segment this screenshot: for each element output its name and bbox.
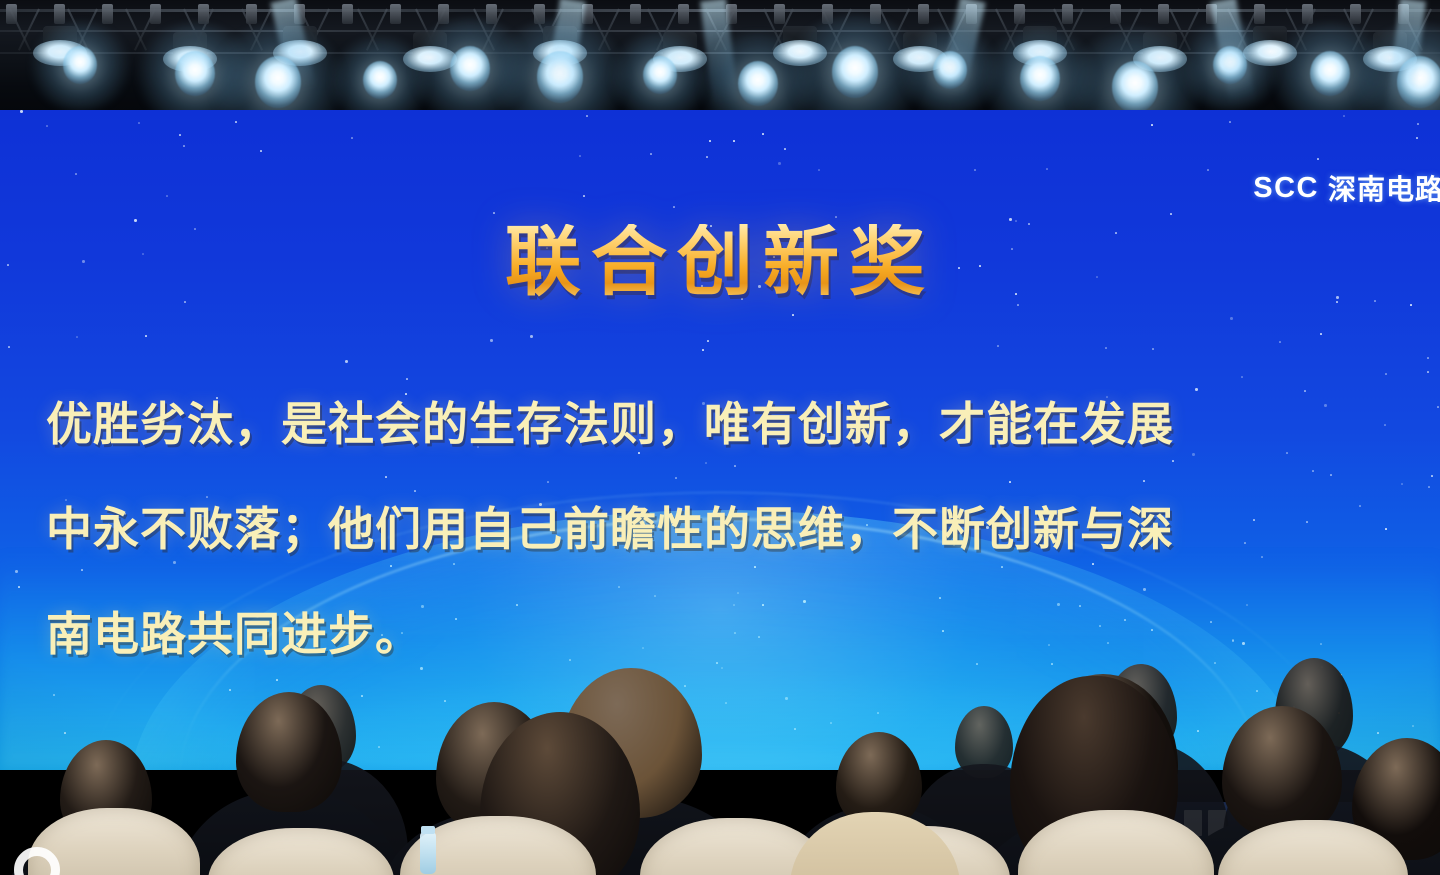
audience-shoulders [374,812,614,875]
star-particle [818,169,820,171]
star-particle [1320,333,1322,335]
star-particle [707,340,709,342]
star-particle [1170,213,1172,215]
star-particle [1374,300,1376,302]
chair-back [640,818,830,875]
star-particle [974,169,976,171]
award-title: 联合创新奖 [0,224,1440,300]
truss-clamp [1014,4,1025,24]
star-particle [650,153,652,155]
star-particle [20,110,23,113]
star-particle [145,335,147,337]
scc-logo-mark: SCC [1253,172,1319,205]
truss-clamp [1110,4,1121,24]
star-particle [351,137,353,139]
audience-shoulders [234,759,408,875]
star-particle [706,156,708,158]
chair-back [1018,810,1214,875]
truss-clamp [390,4,401,24]
star-particle [673,206,675,208]
star-particle [702,349,704,351]
star-particle [1230,317,1233,320]
star-particle [1046,168,1048,170]
water-bottle [420,832,436,874]
name-card [1184,810,1202,836]
star-particle [1105,347,1107,349]
audience-shoulders [790,812,960,875]
star-particle [75,173,77,175]
scc-logo: SCC 深南电路 [1253,168,1440,208]
star-particle [1009,218,1012,221]
star-particle [1151,124,1153,126]
star-particle [1317,158,1319,160]
star-particle [778,162,781,165]
watermark [14,847,70,875]
star-particle [493,212,495,214]
truss-clamp [102,4,113,24]
spotlight-lamp [1112,61,1158,112]
spotlight-lamp [450,46,490,91]
star-particle [46,125,48,127]
star-particle [138,122,140,124]
truss-clamp [1254,4,1265,24]
chair-back [1218,820,1408,875]
spotlight-lamp [738,61,778,106]
chair-back [208,828,394,875]
truss-clamp [342,4,353,24]
star-particle [1437,406,1439,408]
stage-lighting-truss [0,0,1440,112]
scc-logo-name: 深南电路 [1328,168,1440,208]
star-particle [1207,169,1209,171]
star-particle [579,155,581,157]
citation-line: 南电路共同进步。 [46,582,1394,687]
truss-clamp [774,4,785,24]
audience-shoulders [498,796,764,875]
stage-screenshot: SCC 深南电路 联合创新奖 优胜劣汰，是社会的生存法则，唯有创新，才能在发展 … [0,0,1440,875]
truss-clamp [246,4,257,24]
star-particle [260,150,262,152]
star-particle [792,314,794,316]
star-particle [490,339,493,342]
spotlight-lamp [63,46,97,84]
chair-back [830,826,1010,875]
star-particle [762,133,764,135]
spotlight-lamp [643,56,677,94]
star-particle [1427,371,1429,373]
circle-logo-icon [14,847,60,875]
desk-surface [1140,802,1440,862]
star-particle [134,219,137,222]
audience-shoulders [1160,816,1404,875]
truss-clamp [54,4,65,24]
star-particle [1229,121,1231,123]
truss-clamp [198,4,209,24]
star-particle [179,134,181,136]
spotlight-lamp [1020,56,1060,101]
star-particle [997,345,999,347]
star-particle [1401,483,1403,485]
name-card [1240,816,1262,830]
star-particle [1431,475,1433,477]
star-particle [76,336,78,338]
spotlight-lamp [1310,51,1350,96]
star-particle [235,121,237,123]
star-particle [1416,137,1418,139]
star-particle [586,115,588,117]
spotlight-lamp [363,61,397,99]
truss-clamp [918,4,929,24]
star-particle [583,195,585,197]
audience-shoulders [774,806,984,875]
star-particle [1152,348,1154,350]
award-citation: 优胜劣汰，是社会的生存法则，唯有创新，才能在发展 中永不败落；他们用自己前瞻性的… [46,372,1394,687]
truss-clamp [678,4,689,24]
name-card [1208,810,1226,836]
star-particle [1343,115,1345,117]
truss-clamp [6,4,17,24]
truss-clamp [1350,4,1361,24]
star-particle [784,148,786,150]
star-particle [1015,220,1017,222]
star-particle [1427,357,1429,359]
spotlight-lamp [832,46,878,98]
citation-line: 中永不败落；他们用自己前瞻性的思维，不断创新与深 [46,477,1394,582]
star-particle [530,335,533,338]
star-particle [345,360,348,363]
audience-shoulders [966,812,1240,875]
truss-clamp [1062,4,1073,24]
truss-clamp [1302,4,1313,24]
star-particle [184,301,186,303]
star-particle [733,140,735,142]
star-particle [1336,301,1338,303]
audience-shoulders [903,764,1065,875]
star-particle [1017,304,1019,306]
star-particle [1279,341,1281,343]
star-particle [8,346,10,348]
monitor-box [1272,798,1318,832]
bottle-cap [421,826,435,834]
truss-clamp [630,4,641,24]
star-particle [166,195,168,197]
chair-back [400,816,596,875]
star-particle [1417,123,1419,125]
truss-clamp [150,4,161,24]
star-particle [1428,486,1430,488]
star-particle [709,140,711,142]
star-particle [1410,304,1412,306]
star-particle [183,145,185,147]
audience-shoulders [1290,838,1440,875]
citation-line: 优胜劣汰，是社会的生存法则，唯有创新，才能在发展 [46,372,1394,477]
truss-clamp [1158,4,1169,24]
audience-shoulders [174,790,404,875]
